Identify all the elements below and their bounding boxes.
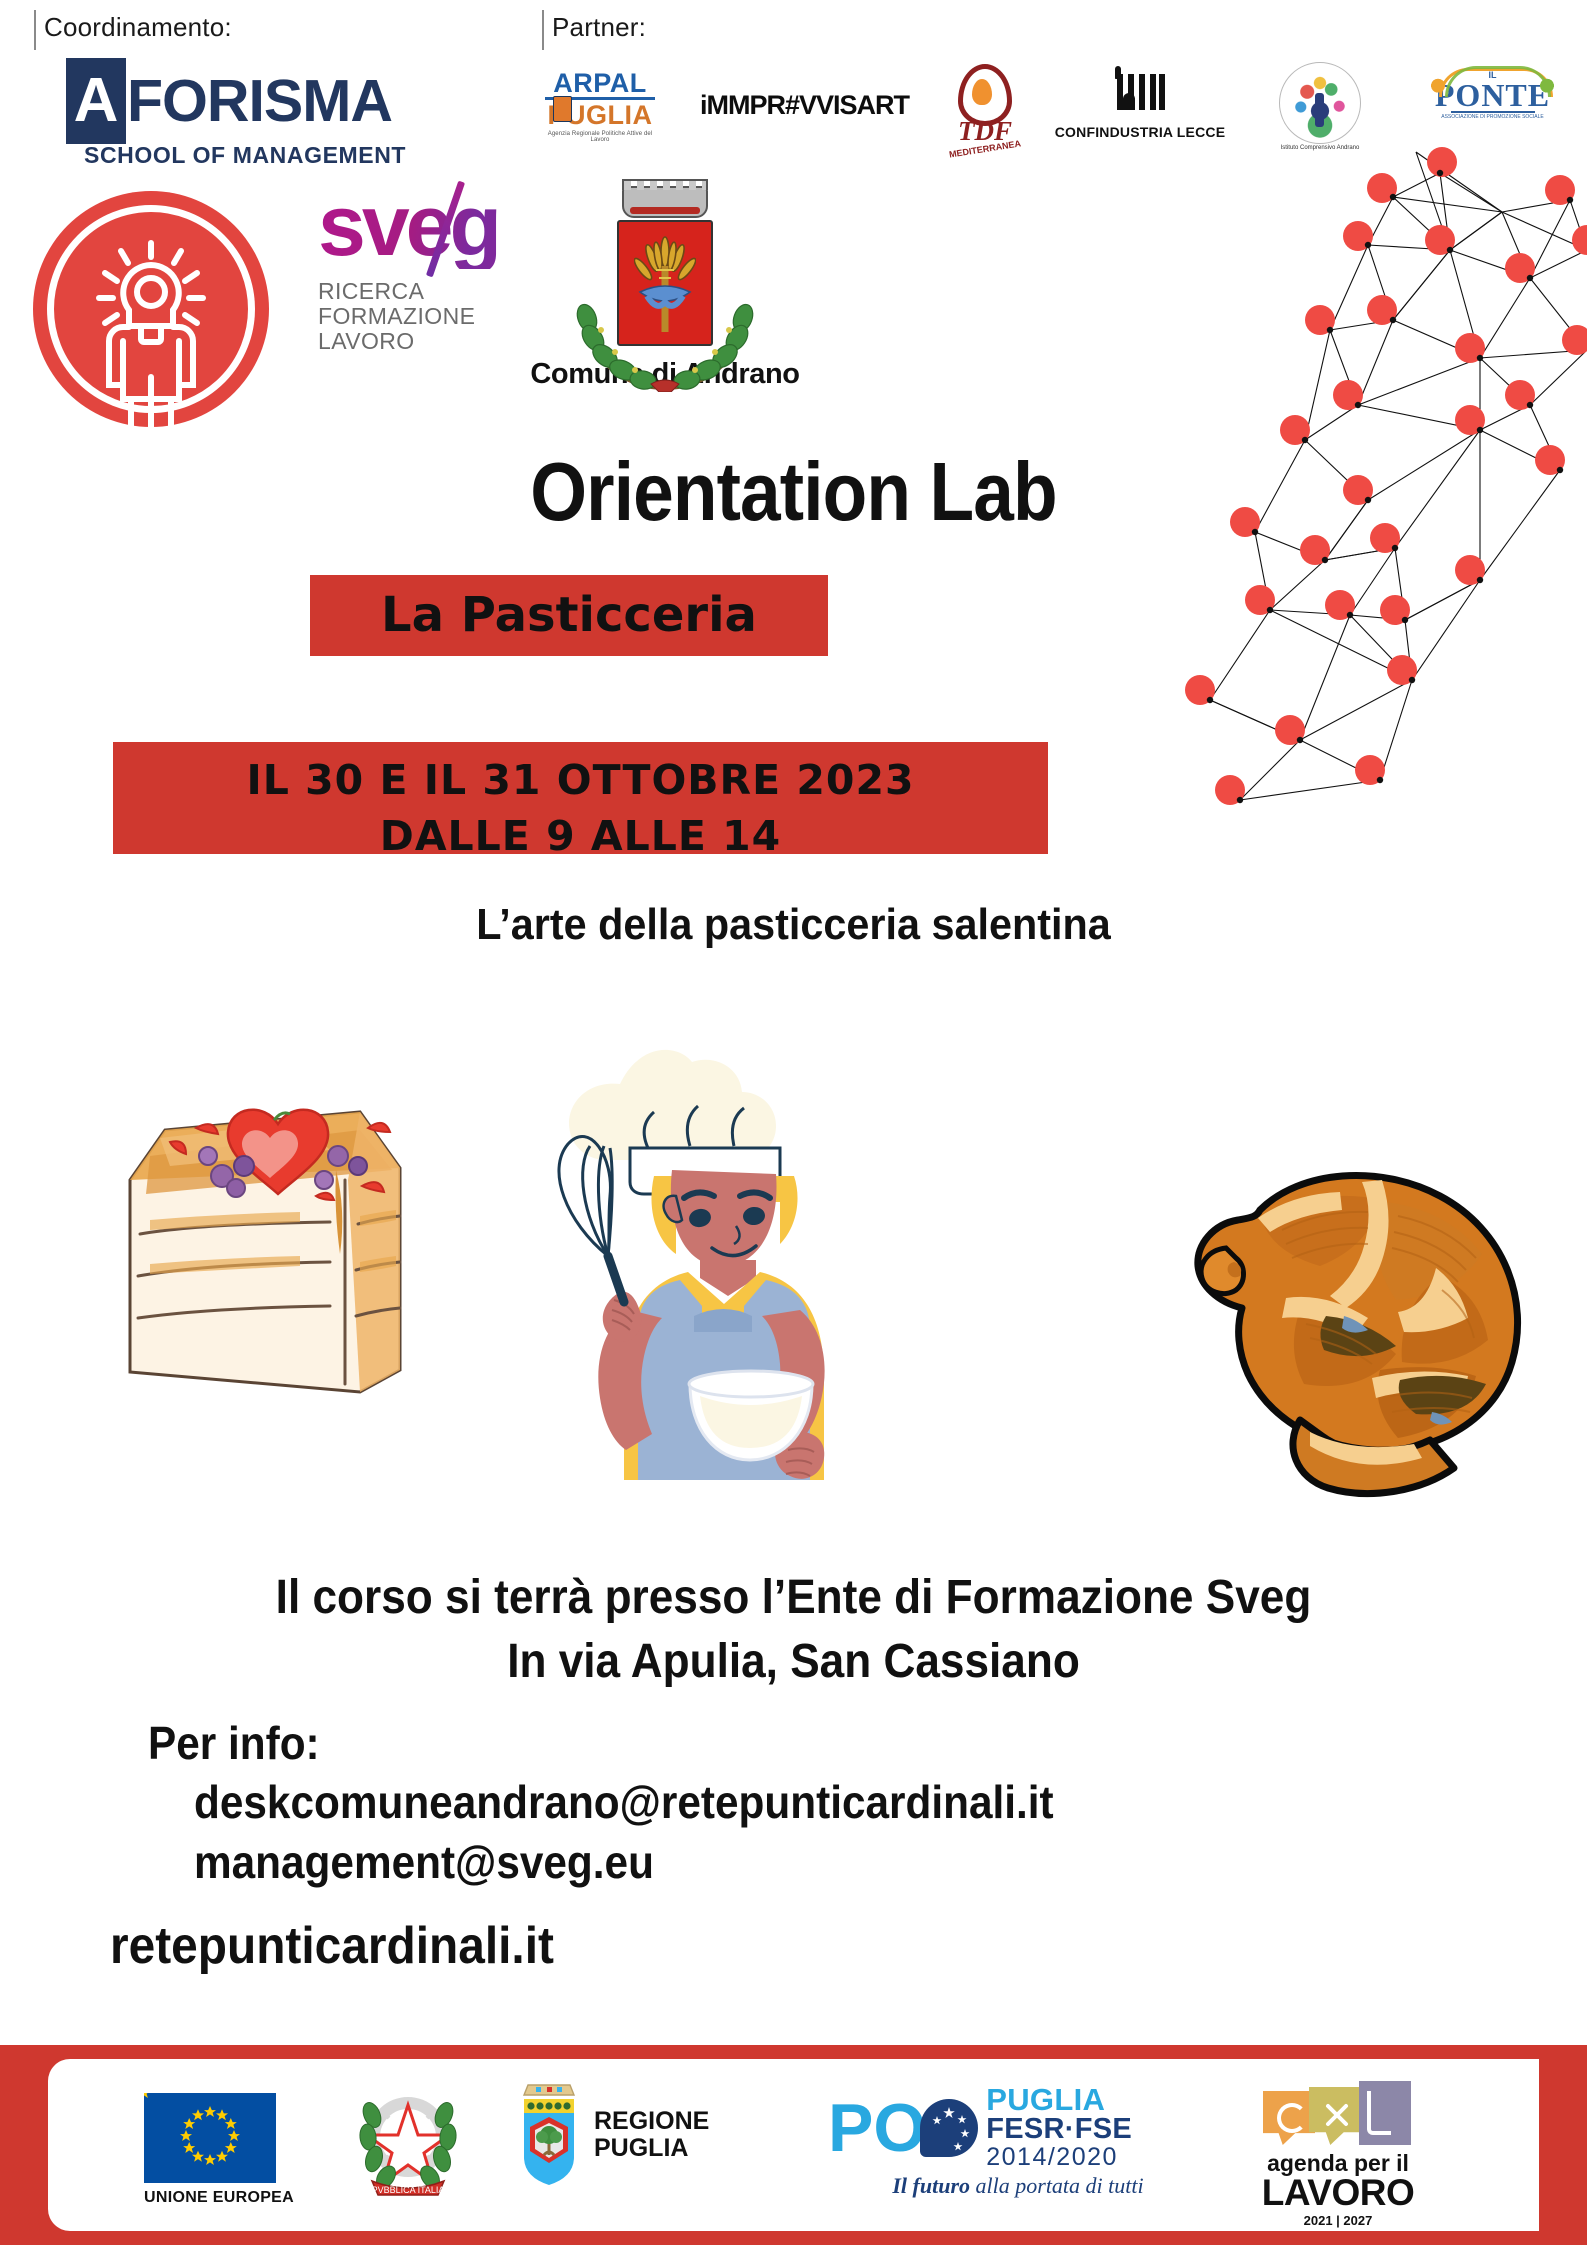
agenda-line2: LAVORO: [1228, 2175, 1448, 2211]
poster-body-text: Il corso si terrà presso l’Ente di Forma…: [0, 1570, 1587, 1976]
ponte-arc-green: [1445, 66, 1551, 97]
po-slogan: Il futuro alla portata di tutti: [828, 2173, 1208, 2199]
logo-regione-puglia: REGIONE PUGLIA: [518, 2083, 788, 2187]
po-word-puglia: PUGLIA: [986, 2085, 1132, 2115]
po-word-fesr-fse: FESR·FSE: [986, 2115, 1132, 2144]
info-label: Per info:: [148, 1716, 1472, 1770]
coordinamento-label: Coordinamento:: [44, 12, 232, 43]
eu-flag-icon: [144, 2093, 276, 2183]
mural-crown-icon: [622, 186, 708, 218]
agenda-glyph-x-lines-icon: [1323, 2101, 1351, 2129]
po-slogan-bold: Il futuro: [892, 2173, 970, 2198]
logo-il-ponte: IL PONTE ASSOCIAZIONE DI PROMOZIONE SOCI…: [1425, 64, 1560, 120]
arpal-emblem-icon: [553, 96, 572, 122]
illustration-row: [0, 980, 1587, 1500]
aforisma-mark-letter: A: [66, 70, 126, 132]
contact-email-2[interactable]: management@sveg.eu: [194, 1834, 1476, 1890]
confindustria-wordmark: CONFINDUSTRIA LECCE: [1045, 124, 1235, 140]
oak-wreath-icon: [571, 296, 759, 392]
logo-confindustria-lecce: CONFINDUSTRIA LECCE: [1045, 66, 1235, 140]
lightbulb-person-icon: [33, 191, 269, 427]
aforisma-subtitle: SCHOOL OF MANAGEMENT: [84, 142, 406, 169]
coordinamento-divider: [34, 10, 36, 50]
page-title: Orientation Lab: [95, 444, 1492, 540]
date-line-1: IL 30 E IL 31 OTTOBRE 2023: [113, 742, 1048, 804]
footer-logo-band: UNIONE EUROPEA: [0, 2045, 1587, 2245]
logo-aforisma: A FORISMA: [66, 58, 392, 144]
agenda-glyph-a-inner-icon: [1277, 2103, 1307, 2133]
puglia-shield-icon: [518, 2083, 580, 2187]
italian-emblem-icon: REPVBBLICA ITALIANA: [348, 2081, 468, 2209]
po-slogan-rest: alla portata di tutti: [970, 2173, 1144, 2198]
aforisma-mark: A: [66, 58, 126, 144]
logo-arpal-puglia: ARPAL PUGLIA Agenzia Regionale Politiche…: [545, 70, 655, 143]
po-bubble-icon: [920, 2099, 978, 2157]
ponte-figure-right-icon: [1536, 78, 1558, 100]
logo-agenda-per-il-lavoro: agenda per il LAVORO 2021 | 2027: [1228, 2081, 1448, 2228]
ponte-subtitle: ASSOCIAZIONE DI PROMOZIONE SOCIALE: [1425, 114, 1560, 120]
logo-improvvisart: iMMPR#VVISART: [700, 90, 900, 121]
website-link[interactable]: retepunticardinali.it: [110, 1916, 1469, 1976]
lightbulb-person-badge: [33, 191, 269, 427]
logo-istituto-comprensivo-andrano: Istituto Comprensivo Andrano: [1265, 62, 1375, 151]
footer-white-panel: UNIONE EUROPEA: [48, 2059, 1539, 2231]
agenda-glyph-icons: [1263, 2081, 1413, 2151]
arpal-line3: Agenzia Regionale Politiche Attive del L…: [545, 131, 655, 143]
colonnade-icon: [1115, 66, 1165, 120]
logo-po-puglia-fesr-fse: PO: [828, 2085, 1208, 2199]
baker-with-whisk-illustration: [559, 1050, 825, 1480]
regione-puglia-text: REGIONE PUGLIA: [594, 2108, 709, 2162]
logo-repubblica-italiana: REPVBBLICA ITALIANA: [348, 2081, 468, 2214]
shield-icon: [617, 220, 713, 346]
logo-unione-europea: UNIONE EUROPEA: [144, 2093, 294, 2207]
millefoglie-cake-illustration: [130, 1110, 400, 1392]
arpal-line1: ARPAL: [545, 70, 655, 96]
poster-subtitle: La Pasticceria: [310, 575, 828, 656]
logo-tdf-mediterranea: TDF MEDITERRANEA: [920, 64, 1050, 154]
venue-line-2: In via Apulia, San Cassiano: [63, 1634, 1523, 1690]
partner-label: Partner:: [552, 12, 646, 43]
contact-email-1[interactable]: deskcomuneandrano@retepunticardinali.it: [194, 1774, 1476, 1830]
po-mark-icon: PO: [828, 2099, 978, 2157]
improvvisart-wordmark: iMMPR#VVISART: [700, 90, 900, 121]
svg-text:REPVBBLICA ITALIANA: REPVBBLICA ITALIANA: [359, 2185, 457, 2195]
eu-caption: UNIONE EUROPEA: [144, 2189, 294, 2207]
logo-comune-andrano: Comune di Andrano: [515, 186, 815, 391]
aforisma-wordmark: FORISMA: [127, 58, 392, 144]
regione-puglia-line1: REGIONE: [594, 2108, 709, 2135]
poster-page: Coordinamento: Partner: A FORISMA SCHOOL…: [0, 0, 1587, 2245]
venue-line-1: Il corso si terrà presso l’Ente di Forma…: [63, 1570, 1523, 1626]
agenda-line3: 2021 | 2027: [1228, 2213, 1448, 2228]
poster-tagline: L’arte della pasticceria salentina: [48, 900, 1540, 950]
ponte-figure-left-icon: [1427, 78, 1449, 100]
regione-puglia-line2: PUGLIA: [594, 2135, 709, 2162]
date-banner: IL 30 E IL 31 OTTOBRE 2023 DALLE 9 ALLE …: [113, 742, 1048, 854]
flame-icon: [958, 64, 1012, 126]
po-word-years: 2014/2020: [986, 2144, 1132, 2170]
po-letter: PO: [828, 2100, 926, 2156]
tree-emblem-icon: [1279, 62, 1361, 144]
croissant-illustration: [1198, 1175, 1518, 1493]
subtitle-banner: La Pasticceria: [310, 575, 828, 656]
agenda-glyph-l-icon: [1359, 2081, 1411, 2145]
partner-divider: [542, 10, 544, 50]
date-line-2: DALLE 9 ALLE 14: [113, 804, 1048, 860]
